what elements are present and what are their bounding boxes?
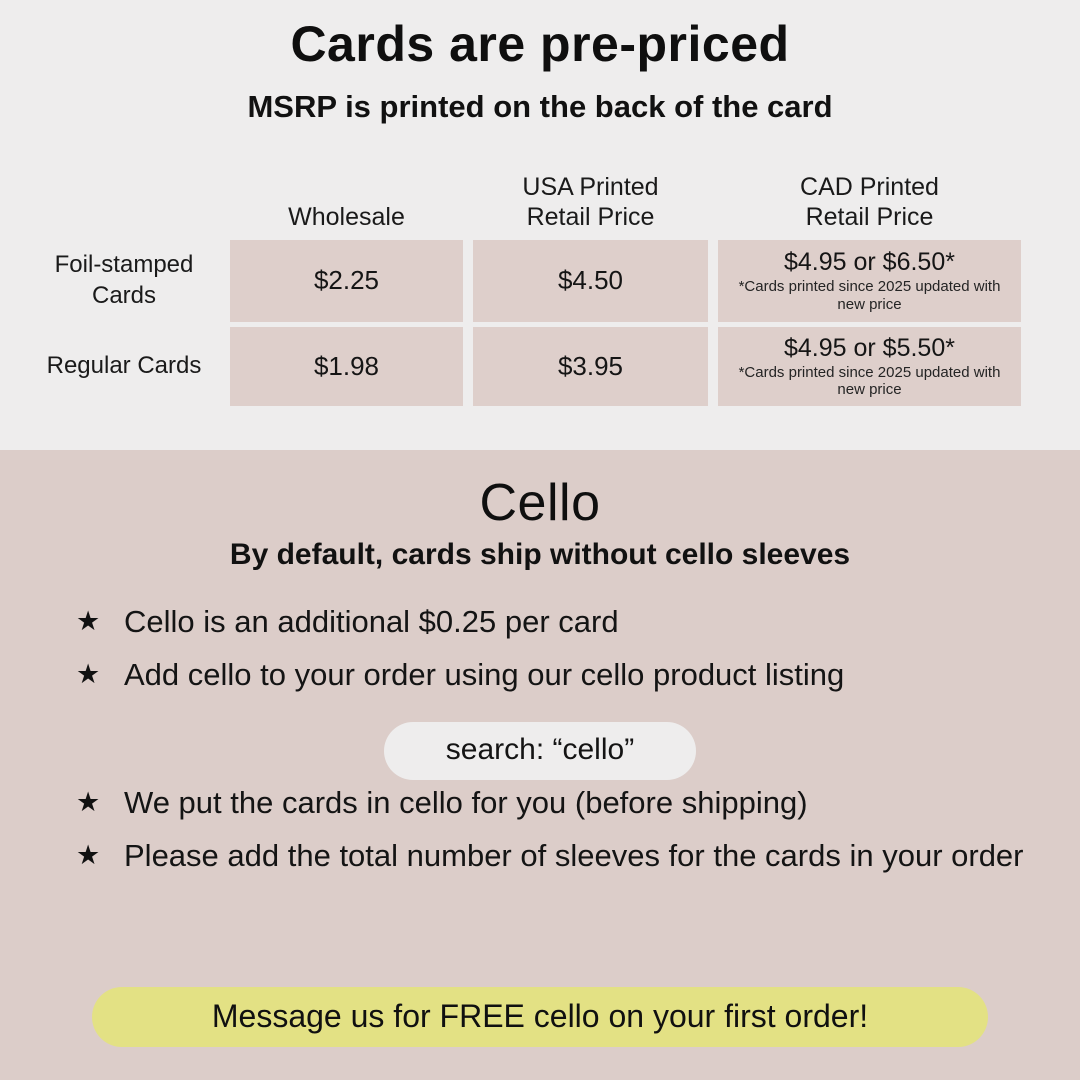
search-hint-row: search: “cello” [0, 722, 1080, 780]
cell-regular-cad: $4.95 or $5.50* *Cards printed since 202… [718, 327, 1021, 406]
promo-banner[interactable]: Message us for FREE cello on your first … [92, 987, 988, 1047]
row-label-regular-cards: Regular Cards [28, 327, 220, 406]
column-header-usa-retail: USA Printed Retail Price [473, 173, 708, 234]
list-item: ★ Cello is an additional $0.25 per card [76, 602, 1016, 643]
cello-heading: Cello [0, 475, 1080, 532]
cell-foil-cad: $4.95 or $6.50* *Cards printed since 202… [718, 240, 1021, 322]
column-header-usa-retail-line1: USA Printed [473, 173, 708, 203]
row-label-foil-stamped-line1: Foil-stamped [55, 250, 194, 281]
star-icon: ★ [76, 655, 124, 693]
star-icon: ★ [76, 783, 124, 821]
row-label-foil-stamped: Foil-stamped Cards [28, 240, 220, 322]
list-item: ★ Add cello to your order using our cell… [76, 655, 1016, 696]
list-item-label: Cello is an additional $0.25 per card [124, 602, 1016, 643]
table-row: Foil-stamped Cards $2.25 $4.50 $4.95 or … [28, 240, 1018, 322]
pricing-section: Cards are pre-priced MSRP is printed on … [0, 0, 1080, 450]
cell-regular-usa: $3.95 [473, 327, 708, 406]
list-item: ★ We put the cards in cello for you (bef… [76, 783, 1036, 824]
page-subtitle: MSRP is printed on the back of the card [0, 88, 1080, 125]
page-title: Cards are pre-priced [0, 16, 1080, 74]
cello-section: Cello By default, cards ship without cel… [0, 450, 1080, 1080]
list-item: ★ Please add the total number of sleeves… [76, 836, 1036, 877]
search-hint-pill[interactable]: search: “cello” [384, 722, 696, 780]
cell-foil-cad-value: $4.95 or $6.50* [784, 248, 955, 277]
row-label-foil-stamped-line2: Cards [55, 281, 194, 312]
cell-foil-wholesale-value: $2.25 [314, 266, 379, 296]
cell-foil-usa: $4.50 [473, 240, 708, 322]
star-icon: ★ [76, 602, 124, 640]
table-row: Regular Cards $1.98 $3.95 $4.95 or $5.50… [28, 327, 1018, 406]
cell-regular-wholesale-value: $1.98 [314, 352, 379, 382]
column-header-cad-retail: CAD Printed Retail Price [718, 173, 1021, 234]
column-header-wholesale-line1: Wholesale [230, 203, 463, 233]
pricing-table: Wholesale USA Printed Retail Price CAD P… [28, 168, 1018, 411]
list-item-label: Please add the total number of sleeves f… [124, 836, 1036, 877]
column-header-cad-retail-line2: Retail Price [718, 203, 1021, 233]
infographic-page: Cards are pre-priced MSRP is printed on … [0, 0, 1080, 1080]
table-header-row: Wholesale USA Printed Retail Price CAD P… [28, 168, 1018, 234]
list-item-label: We put the cards in cello for you (befor… [124, 783, 1036, 824]
cell-foil-wholesale: $2.25 [230, 240, 463, 322]
star-icon: ★ [76, 836, 124, 874]
cell-foil-usa-value: $4.50 [558, 266, 623, 296]
cello-subheading: By default, cards ship without cello sle… [0, 537, 1080, 573]
cell-regular-cad-value: $4.95 or $5.50* [784, 334, 955, 363]
cell-regular-wholesale: $1.98 [230, 327, 463, 406]
list-item-label: Add cello to your order using our cello … [124, 655, 1016, 696]
cell-regular-usa-value: $3.95 [558, 352, 623, 382]
column-header-cad-retail-line1: CAD Printed [718, 173, 1021, 203]
column-header-usa-retail-line2: Retail Price [473, 203, 708, 233]
cell-regular-cad-note: *Cards printed since 2025 updated with n… [718, 364, 1021, 399]
row-label-regular-cards-line1: Regular Cards [47, 351, 202, 382]
cell-foil-cad-note: *Cards printed since 2025 updated with n… [718, 278, 1021, 313]
cello-bullet-list-top: ★ Cello is an additional $0.25 per card … [76, 602, 1016, 696]
column-header-wholesale: Wholesale [230, 203, 463, 235]
promo-banner-row: Message us for FREE cello on your first … [0, 987, 1080, 1047]
cello-bullet-list-bottom: ★ We put the cards in cello for you (bef… [76, 783, 1036, 889]
